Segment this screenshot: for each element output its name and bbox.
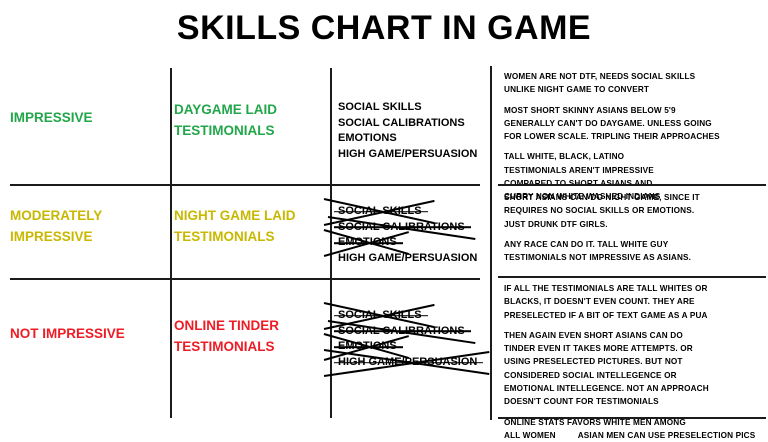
table-row: NOT IMPRESSIVE ONLINE TINDER TESTIMONIAL… <box>10 280 490 418</box>
panel-divider-1 <box>498 184 766 186</box>
note-line: JUST DRUNK DTF GIRLS. <box>504 218 766 231</box>
source-cell-daygame: DAYGAME LAID TESTIMONIALS <box>174 100 324 142</box>
source-line-1: NIGHT GAME LAID <box>174 206 324 227</box>
skills-cell-row-2: SOCIAL SKILLS SOCIAL CALIBRATIONS EMOTIO… <box>338 204 488 266</box>
source-line-1: DAYGAME LAID <box>174 100 324 121</box>
source-line-1: ONLINE TINDER <box>174 316 324 337</box>
skill-item-struck: HIGH GAME/PERSUASION <box>338 355 477 371</box>
skill-item-struck: SOCIAL SKILLS <box>338 308 422 324</box>
note-line: WOMEN ARE NOT DTF, NEEDS SOCIAL SKILLS <box>504 70 766 83</box>
skill-item: SOCIAL CALIBRATIONS <box>338 116 465 132</box>
table-row: IMPRESSIVE DAYGAME LAID TESTIMONIALS SOC… <box>10 68 490 184</box>
rating-cell-not-impressive: NOT IMPRESSIVE <box>10 324 168 345</box>
note-line: PRESELECTED IF A BIT OF TEXT GAME AS A P… <box>504 309 766 322</box>
source-line-2: TESTIMONIALS <box>174 121 324 142</box>
skill-item: HIGH GAME/PERSUASION <box>338 251 477 267</box>
note-footer-row: ALL WOMEN ASIAN MEN CAN USE PRESELECTION… <box>504 429 766 442</box>
rating-cell-impressive: IMPRESSIVE <box>10 108 168 129</box>
note-footer-left: ALL WOMEN <box>504 429 556 442</box>
note-line: BLACKS, IT DOESN'T EVEN COUNT. THEY ARE <box>504 295 766 308</box>
note-line: TESTIMONIALS AREN'T IMPRESSIVE <box>504 164 766 177</box>
note-line: MOST SHORT SKINNY ASIANS BELOW 5'9 <box>504 104 766 117</box>
skill-item-struck: EMOTIONS <box>338 235 397 251</box>
note-line: TESTIMONIALS NOT IMPRESSIVE AS ASIANS. <box>504 251 766 264</box>
panel-divider-3 <box>498 417 766 419</box>
panel-left-border <box>490 66 492 420</box>
note-block-row-2: SHORT ASIANS CAN DO NIGHT GAME, SINCE IT… <box>504 191 766 264</box>
note-line: FOR LOWER SCALE. TRIPLING THEIR APPROACH… <box>504 130 766 143</box>
skills-grid: IMPRESSIVE DAYGAME LAID TESTIMONIALS SOC… <box>10 68 490 418</box>
note-footer-right: ASIAN MEN CAN USE PRESELECTION PICS <box>578 429 756 442</box>
note-line: TALL WHITE, BLACK, LATINO <box>504 150 766 163</box>
note-line: DOESN'T COUNT FOR TESTIMONIALS <box>504 395 766 408</box>
note-line: CONSIDERED SOCIAL INTELLEGENCE OR <box>504 369 766 382</box>
note-line: USING PRESELECTED PICTURES. BUT NOT <box>504 355 766 368</box>
note-line: ANY RACE CAN DO IT. TALL WHITE GUY <box>504 238 766 251</box>
note-line: GENERALLY CAN'T DO DAYGAME. UNLESS GOING <box>504 117 766 130</box>
skill-item: HIGH GAME/PERSUASION <box>338 147 477 163</box>
source-line-2: TESTIMONIALS <box>174 337 324 358</box>
note-line: SHORT ASIANS CAN DO NIGHT GAME, SINCE IT <box>504 191 766 204</box>
rating-line-1: MODERATELY <box>10 206 168 227</box>
panel-divider-2 <box>498 276 766 278</box>
skill-item-struck: SOCIAL SKILLS <box>338 204 422 220</box>
source-cell-tinder: ONLINE TINDER TESTIMONIALS <box>174 316 324 358</box>
note-line: REQUIRES NO SOCIAL SKILLS OR EMOTIONS. <box>504 204 766 217</box>
source-line-2: TESTIMONIALS <box>174 227 324 248</box>
commentary-panel: WOMEN ARE NOT DTF, NEEDS SOCIAL SKILLS U… <box>490 66 768 420</box>
note-line: THEN AGAIN EVEN SHORT ASIANS CAN DO <box>504 329 766 342</box>
source-cell-nightgame: NIGHT GAME LAID TESTIMONIALS <box>174 206 324 248</box>
note-line: EMOTIONAL INTELLEGENCE. NOT AN APPROACH <box>504 382 766 395</box>
note-line: TINDER EVEN IT TAKES MORE ATTEMPTS. OR <box>504 342 766 355</box>
skills-cell-row-1: SOCIAL SKILLS SOCIAL CALIBRATIONS EMOTIO… <box>338 100 488 162</box>
rating-line-2: IMPRESSIVE <box>10 227 168 248</box>
page-title: SKILLS CHART IN GAME <box>0 10 768 47</box>
note-line: IF ALL THE TESTIMONIALS ARE TALL WHITES … <box>504 282 766 295</box>
skills-cell-row-3: SOCIAL SKILLS SOCIAL CALIBRATIONS EMOTIO… <box>338 308 488 370</box>
skill-item: EMOTIONS <box>338 131 397 147</box>
skill-item: SOCIAL SKILLS <box>338 100 422 116</box>
rating-cell-moderately-impressive: MODERATELY IMPRESSIVE <box>10 206 168 248</box>
note-line: UNLIKE NIGHT GAME TO CONVERT <box>504 83 766 96</box>
table-row: MODERATELY IMPRESSIVE NIGHT GAME LAID TE… <box>10 186 490 278</box>
